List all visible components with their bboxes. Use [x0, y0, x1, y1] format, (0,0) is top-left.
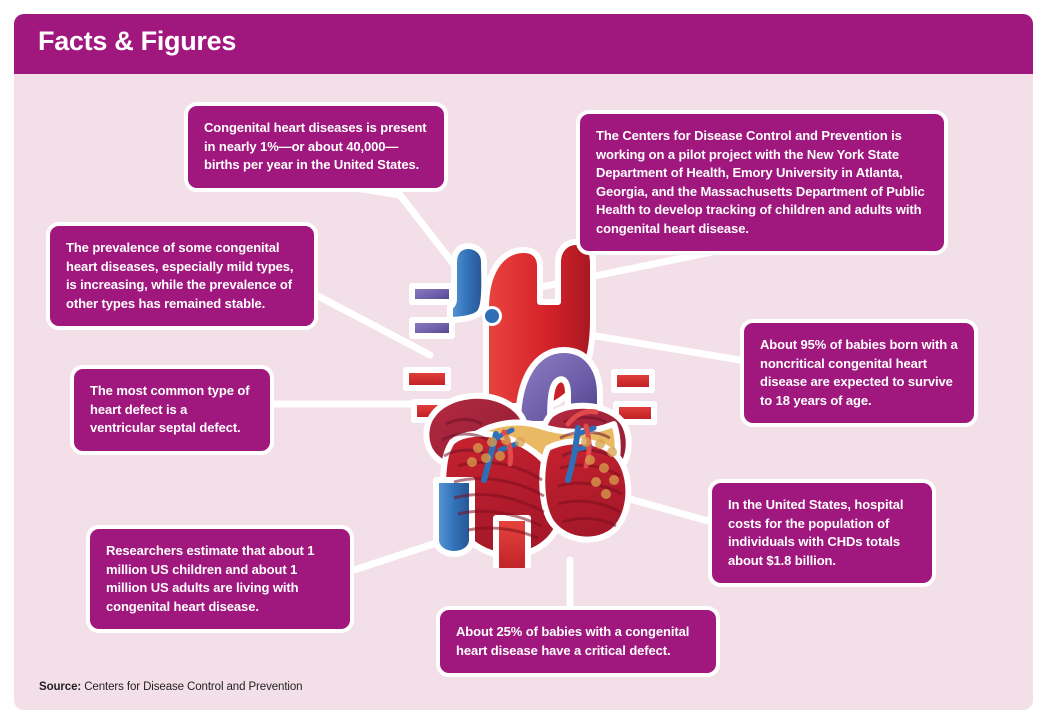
- callout-living-with-chd[interactable]: Researchers estimate that about 1 millio…: [86, 525, 354, 633]
- source-text: Centers for Disease Control and Preventi…: [81, 681, 302, 693]
- pulmonary-vein-stub-left-1: [412, 286, 452, 302]
- heart-illustration: [400, 228, 660, 568]
- artery-stub-left-1: [406, 370, 448, 388]
- callout-critical-defect[interactable]: About 25% of babies with a congenital he…: [436, 606, 720, 677]
- callout-hospital-costs[interactable]: In the United States, hospital costs for…: [708, 479, 936, 587]
- descending-aorta: [496, 518, 528, 568]
- inferior-vena-cava: [436, 480, 472, 554]
- source-credit: Source: Centers for Disease Control and …: [39, 681, 302, 693]
- callout-cdc-pilot-project[interactable]: The Centers for Disease Control and Prev…: [576, 110, 948, 255]
- callout-most-common-defect[interactable]: The most common type of heart defect is …: [70, 365, 274, 455]
- infographic-root: Facts & Figures: [0, 0, 1046, 722]
- superior-vena-cava: [450, 246, 484, 320]
- callout-congenital-births[interactable]: Congenital heart diseases is present in …: [184, 102, 448, 192]
- callout-survival-rate[interactable]: About 95% of babies born with a noncriti…: [740, 319, 978, 427]
- pulmonary-vein-stub-left-2: [412, 320, 452, 336]
- callout-prevalence-trend[interactable]: The prevalence of some congenital heart …: [46, 222, 318, 330]
- source-label: Source:: [39, 681, 81, 693]
- artery-stub-right-1: [614, 372, 652, 390]
